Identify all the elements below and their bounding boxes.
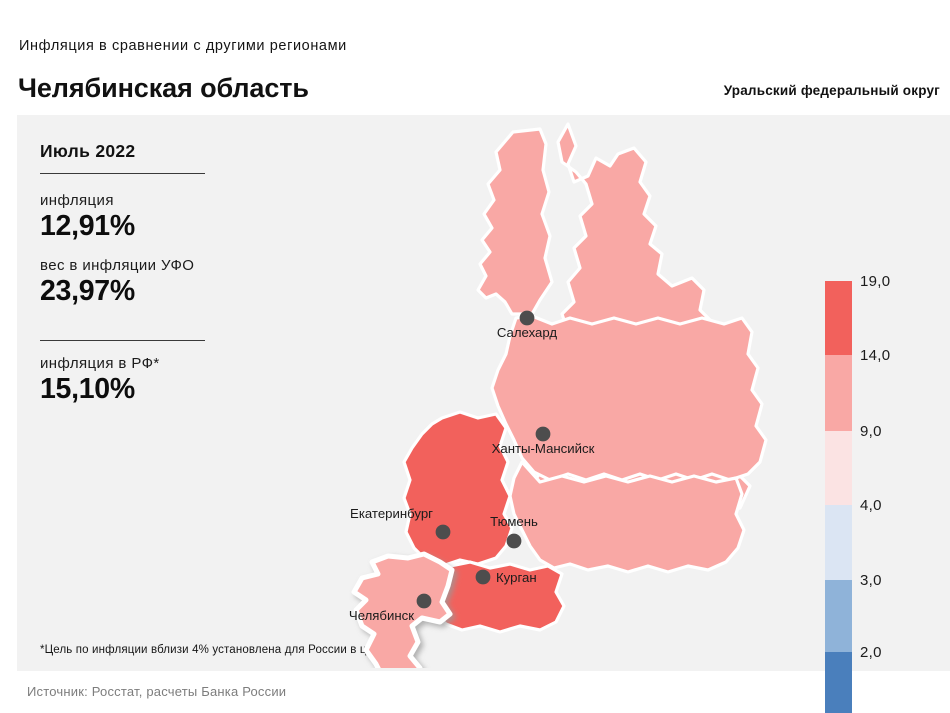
map-regions: [354, 124, 766, 668]
city-dot-chelyabinsk: [417, 594, 432, 609]
region-yamalo-nenets[interactable]: [478, 129, 552, 314]
page-title: Челябинская область: [18, 73, 309, 104]
legend-band-3-4: [825, 505, 852, 580]
legend-band-14-19: [825, 281, 852, 355]
city-label-tyumen: Тюмень: [490, 514, 538, 529]
kicker-text: Инфляция в сравнении с другими регионами: [19, 38, 347, 54]
inflation-label: инфляция: [40, 192, 290, 209]
divider-top: [40, 173, 205, 174]
weight-label: вес в инфляции УФО: [40, 257, 290, 274]
color-legend: 19,0 14,0 9,0 4,0 3,0 2,0 1,0: [825, 281, 852, 713]
legend-tick-19: 19,0: [860, 273, 890, 290]
city-label-chelyabinsk: Челябинск: [349, 608, 414, 623]
legend-band-4-9: [825, 431, 852, 505]
legend-band-2-3: [825, 580, 852, 652]
choropleth-map: Салехард Ханты-Мансийск Екатеринбург Тюм…: [300, 118, 800, 668]
city-dot-ekaterinburg: [436, 525, 451, 540]
city-dot-salekhard: [520, 311, 535, 326]
federal-district-label: Уральский федеральный округ: [724, 83, 940, 98]
infographic-page: Инфляция в сравнении с другими регионами…: [0, 0, 950, 713]
russia-inflation-value: 15,10%: [40, 373, 290, 406]
stats-spacer: [40, 308, 290, 334]
city-label-khanty-mansiysk: Ханты-Мансийск: [492, 441, 595, 456]
city-dot-kurgan: [476, 570, 491, 585]
weight-value: 23,97%: [40, 275, 290, 308]
stats-block: Июль 2022 инфляция 12,91% вес в инфляции…: [40, 141, 290, 406]
legend-tick-14: 14,0: [860, 347, 890, 364]
legend-band-9-14: [825, 355, 852, 431]
city-label-salekhard: Салехард: [497, 325, 558, 340]
legend-tick-3: 3,0: [860, 572, 882, 589]
region-sverdlovsk[interactable]: [404, 412, 512, 566]
legend-tick-4: 4,0: [860, 497, 882, 514]
city-dot-khanty-mansiysk: [536, 427, 551, 442]
source-text: Источник: Росстат, расчеты Банка России: [27, 684, 286, 699]
city-dot-tyumen: [507, 534, 522, 549]
legend-tick-2: 2,0: [860, 644, 882, 661]
city-label-kurgan: Курган: [496, 570, 537, 585]
legend-tick-9: 9,0: [860, 423, 882, 440]
period-label: Июль 2022: [40, 141, 290, 162]
russia-inflation-label: инфляция в РФ*: [40, 355, 290, 372]
legend-band-1-2: [825, 652, 852, 713]
inflation-value: 12,91%: [40, 210, 290, 243]
map-svg: Салехард Ханты-Мансийск Екатеринбург Тюм…: [300, 118, 800, 668]
divider-bottom: [40, 340, 205, 341]
city-label-ekaterinburg: Екатеринбург: [350, 506, 433, 521]
